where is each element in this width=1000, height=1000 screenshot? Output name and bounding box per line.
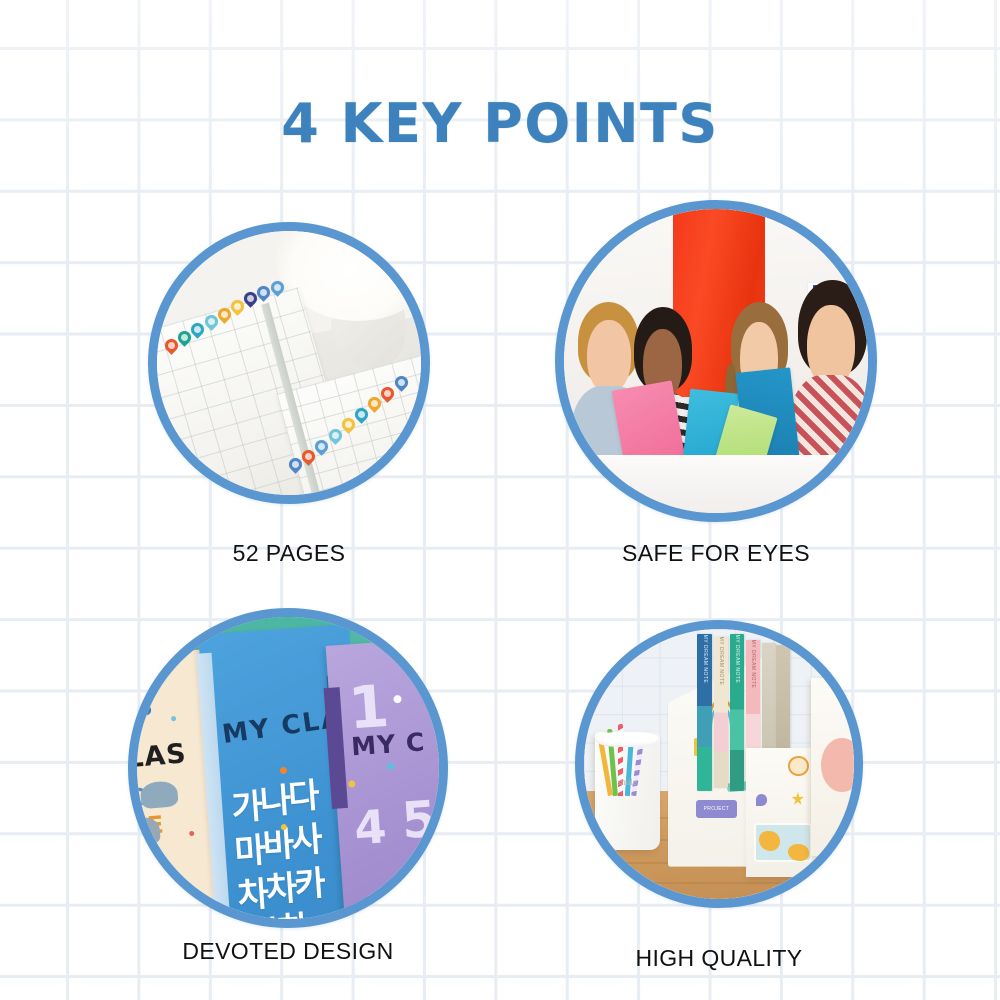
- holder-label-chip: PROJECT: [696, 800, 736, 818]
- photo-file-holder-with-books: smile PROJECT MY DREAM NOTE MY: [584, 629, 854, 899]
- key-point-label-eyes: SAFE FOR EYES: [540, 540, 892, 567]
- cover-numbers: 1 MY C 4 5: [326, 637, 439, 919]
- pen-cup-text: smile: [600, 777, 654, 787]
- book-spine: MY DREAM NOTE: [697, 634, 711, 791]
- key-point-label-design: DEVOTED DESIGN: [118, 938, 458, 965]
- page-title: 4 KEY POINTS: [0, 92, 1000, 155]
- photo-circle-design: A B CLAS C D E F J: [128, 608, 448, 928]
- key-point-label-pages: 52 PAGES: [148, 540, 430, 567]
- photo-circle-eyes: [555, 200, 877, 522]
- photo-students-with-books: [564, 209, 868, 513]
- photo-open-korean-workbook: [157, 231, 421, 495]
- book-spine: MY DREAM NOTE: [730, 634, 744, 791]
- photo-workbook-covers: A B CLAS C D E F J: [137, 617, 439, 919]
- photo-circle-quality: smile PROJECT MY DREAM NOTE MY: [575, 620, 863, 908]
- book-spine: MY DREAM NOTE: [714, 637, 728, 788]
- side-folder: [811, 678, 854, 856]
- key-point-label-quality: HIGH QUALITY: [560, 945, 878, 972]
- pen-cup: smile: [595, 732, 660, 851]
- cover-title-purple: MY C: [351, 727, 427, 761]
- cover-title-cream: CLAS: [137, 738, 188, 776]
- photo-circle-pages: [148, 222, 430, 504]
